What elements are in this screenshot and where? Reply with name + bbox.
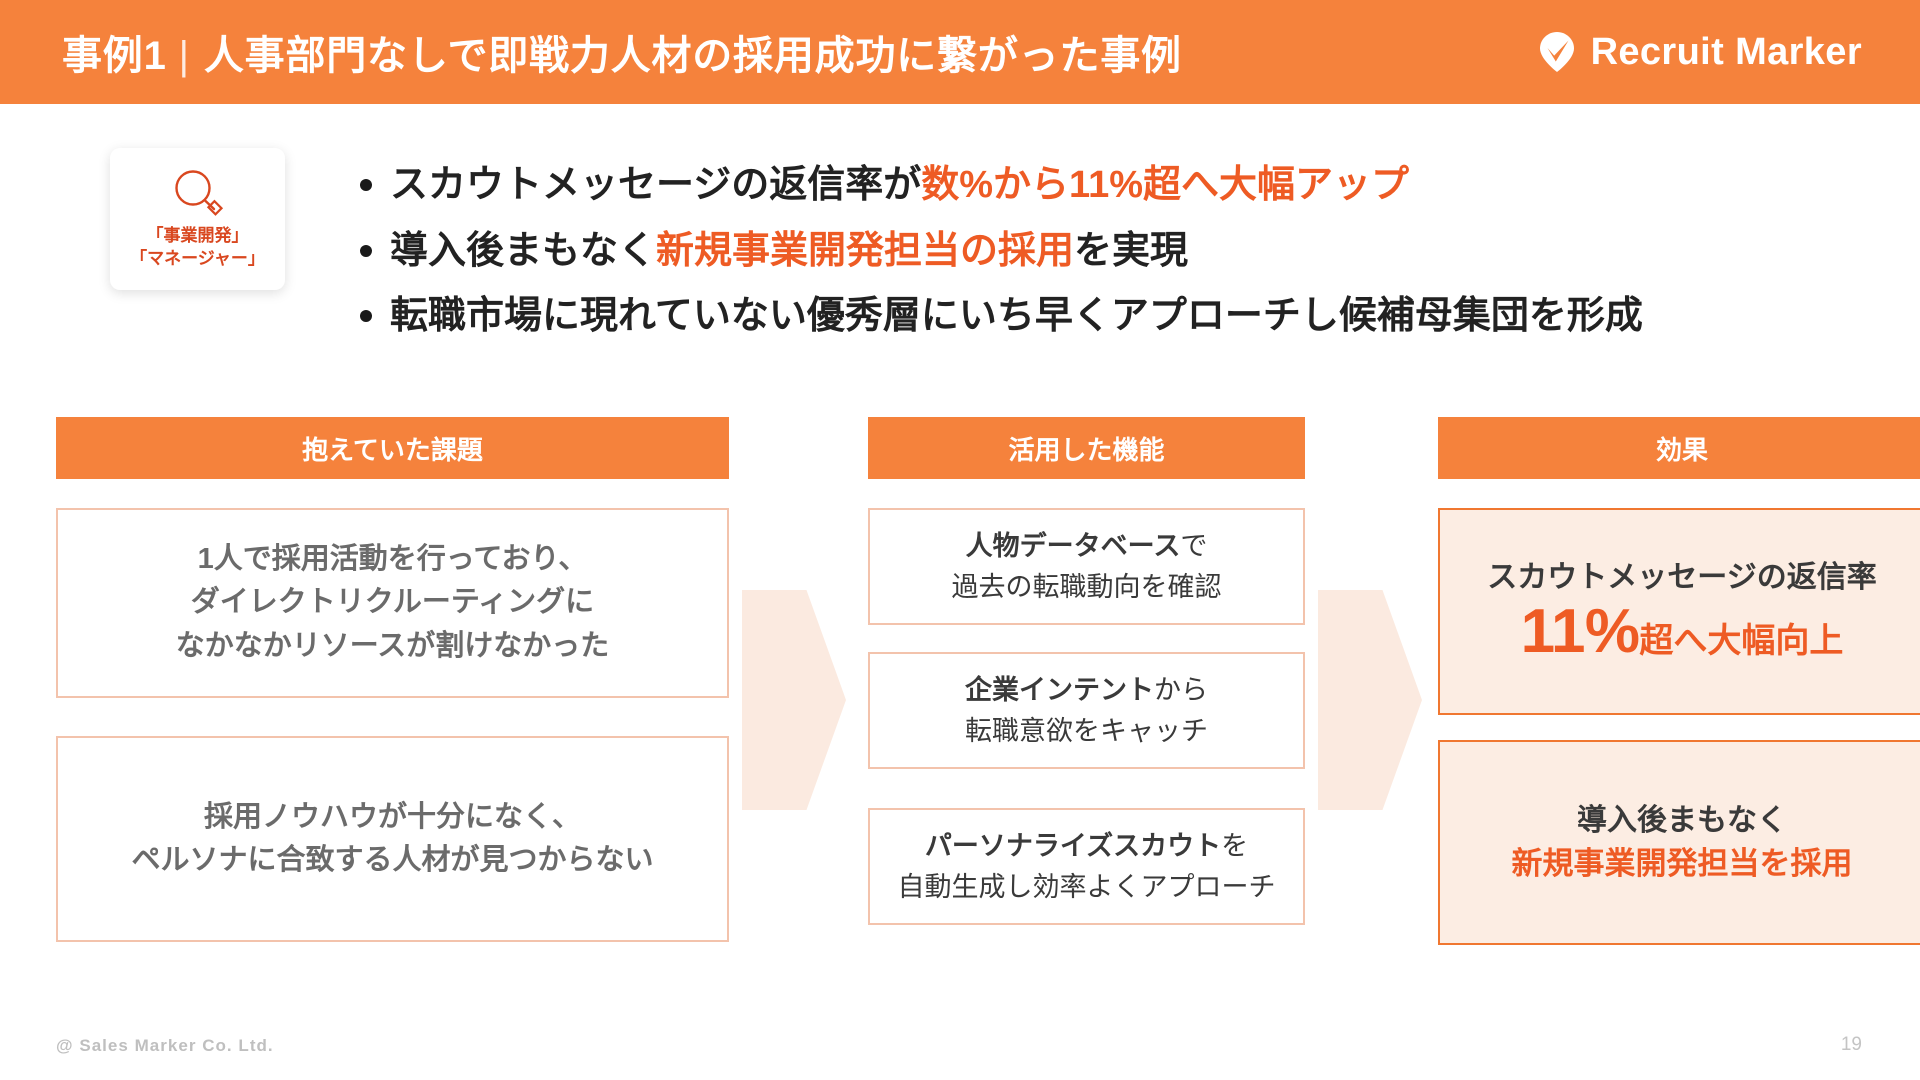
header-separator: | <box>167 34 204 79</box>
persona-line-2: 「マネージャー」 <box>130 248 265 271</box>
feature-2-line-2: 転職意欲をキャッチ <box>965 711 1208 752</box>
bullet-2-part-3: を実現 <box>1074 230 1188 272</box>
header-case-label: 事例1 <box>62 34 167 78</box>
bullet-text: スカウトメッセージの返信率が数%から11%超へ大幅アップ <box>390 162 1409 210</box>
issue-card: 1人で採用活動を行っており、 ダイレクトリクルーティングに なかなかリソースが割… <box>56 508 729 698</box>
feature-card-text: パーソナライズスカウトを 自動生成し効率よくアプローチ <box>898 826 1276 907</box>
issue-card-text: 採用ノウハウが十分になく、 ペルソナに合致する人材が見つからない <box>131 796 653 883</box>
bullet-item: スカウトメッセージの返信率が数%から11%超へ大幅アップ <box>360 162 1860 210</box>
issue-1-line-2: ダイレクトリクルーティングに <box>176 581 610 625</box>
persona-line-1: 「事業開発」 <box>147 225 249 248</box>
result-1-metric: 11%超へ大幅向上 <box>1521 599 1844 664</box>
header-bar: 事例1|人事部門なしで即戦力人材の採用成功に繋がった事例 Recruit Mar… <box>0 0 1920 104</box>
issue-2-line-2: ペルソナに合致する人材が見つからない <box>131 839 653 883</box>
result-1-number: 11% <box>1521 597 1640 666</box>
bullet-text: 導入後まもなく新規事業開発担当の採用を実現 <box>390 228 1188 276</box>
brand-logo: Recruit Marker <box>1535 30 1862 74</box>
footer-copyright: @ Sales Marker Co. Ltd. <box>56 1036 274 1056</box>
magnifier-icon <box>169 167 227 221</box>
feature-1-bold: 人物データベース <box>966 531 1181 561</box>
bullet-2-part-1: 導入後まもなく <box>390 230 656 272</box>
flow-arrow-right-icon <box>1318 590 1422 810</box>
feature-card-text: 企業インテントから 転職意欲をキャッチ <box>965 670 1208 751</box>
bullet-1-part-2: 数%から11%超へ大幅アップ <box>921 164 1409 206</box>
footer-page-number: 19 <box>1841 1034 1862 1056</box>
feature-card: 企業インテントから 転職意欲をキャッチ <box>868 652 1305 769</box>
bullet-text: 転職市場に現れていない優秀層にいち早くアプローチし候補母集団を形成 <box>390 293 1643 341</box>
feature-1-suffix: で <box>1180 531 1207 561</box>
issue-card: 採用ノウハウが十分になく、 ペルソナに合致する人材が見つからない <box>56 736 729 942</box>
issue-1-line-3: なかなかリソースが割けなかった <box>176 625 610 669</box>
feature-3-line-2: 自動生成し効率よくアプローチ <box>898 867 1276 908</box>
bullet-dot-icon <box>360 310 372 322</box>
page-title: 事例1|人事部門なしで即戦力人材の採用成功に繋がった事例 <box>62 23 1182 81</box>
bullet-2-part-2: 新規事業開発担当の採用 <box>656 230 1074 272</box>
feature-3-suffix: を <box>1221 831 1248 861</box>
bullet-dot-icon <box>360 245 372 257</box>
bullet-dot-icon <box>360 179 372 191</box>
issue-1-line-1: 1人で採用活動を行っており、 <box>176 538 610 582</box>
bullet-item: 転職市場に現れていない優秀層にいち早くアプローチし候補母集団を形成 <box>360 293 1860 341</box>
brand-name: Recruit Marker <box>1591 31 1862 74</box>
feature-3-line-1: パーソナライズスカウトを <box>898 826 1276 867</box>
persona-card: 「事業開発」 「マネージャー」 <box>110 148 285 290</box>
issue-card-text: 1人で採用活動を行っており、 ダイレクトリクルーティングに なかなかリソースが割… <box>176 538 610 669</box>
feature-card: 人物データベースで 過去の転職動向を確認 <box>868 508 1305 625</box>
feature-1-line-2: 過去の転職動向を確認 <box>952 567 1222 608</box>
feature-2-suffix: から <box>1154 675 1208 705</box>
feature-3-bold: パーソナライズスカウト <box>925 831 1221 861</box>
feature-card: パーソナライズスカウトを 自動生成し効率よくアプローチ <box>868 808 1305 925</box>
slide-root: 事例1|人事部門なしで即戦力人材の採用成功に繋がった事例 Recruit Mar… <box>0 0 1920 1080</box>
result-card: 導入後まもなく 新規事業開発担当を採用 <box>1438 740 1920 945</box>
column-header-features: 活用した機能 <box>868 417 1305 479</box>
result-2-top: 導入後まもなく <box>1577 801 1787 840</box>
header-title-text: 人事部門なしで即戦力人材の採用成功に繋がった事例 <box>204 34 1182 78</box>
summary-bullet-list: スカウトメッセージの返信率が数%から11%超へ大幅アップ 導入後まもなく新規事業… <box>360 162 1860 359</box>
result-2-accent: 新規事業開発担当を採用 <box>1512 844 1853 884</box>
column-header-results: 効果 <box>1438 417 1920 479</box>
feature-2-line-1: 企業インテントから <box>965 670 1208 711</box>
result-1-suffix: 超へ大幅向上 <box>1639 622 1843 660</box>
bullet-item: 導入後まもなく新規事業開発担当の採用を実現 <box>360 228 1860 276</box>
issue-2-line-1: 採用ノウハウが十分になく、 <box>131 796 653 840</box>
feature-1-line-1: 人物データベースで <box>952 526 1222 567</box>
bullet-1-part-1: スカウトメッセージの返信率が <box>390 164 921 206</box>
feature-card-text: 人物データベースで 過去の転職動向を確認 <box>952 526 1222 607</box>
column-header-issues: 抱えていた課題 <box>56 417 729 479</box>
map-pin-check-icon <box>1535 30 1579 74</box>
result-card: スカウトメッセージの返信率 11%超へ大幅向上 <box>1438 508 1920 715</box>
flow-arrow-right-icon <box>742 590 846 810</box>
result-1-top: スカウトメッセージの返信率 <box>1487 558 1876 597</box>
bullet-3-part-1: 転職市場に現れていない優秀層にいち早くアプローチし候補母集団を形成 <box>390 295 1643 337</box>
feature-2-bold: 企業インテント <box>965 675 1154 705</box>
